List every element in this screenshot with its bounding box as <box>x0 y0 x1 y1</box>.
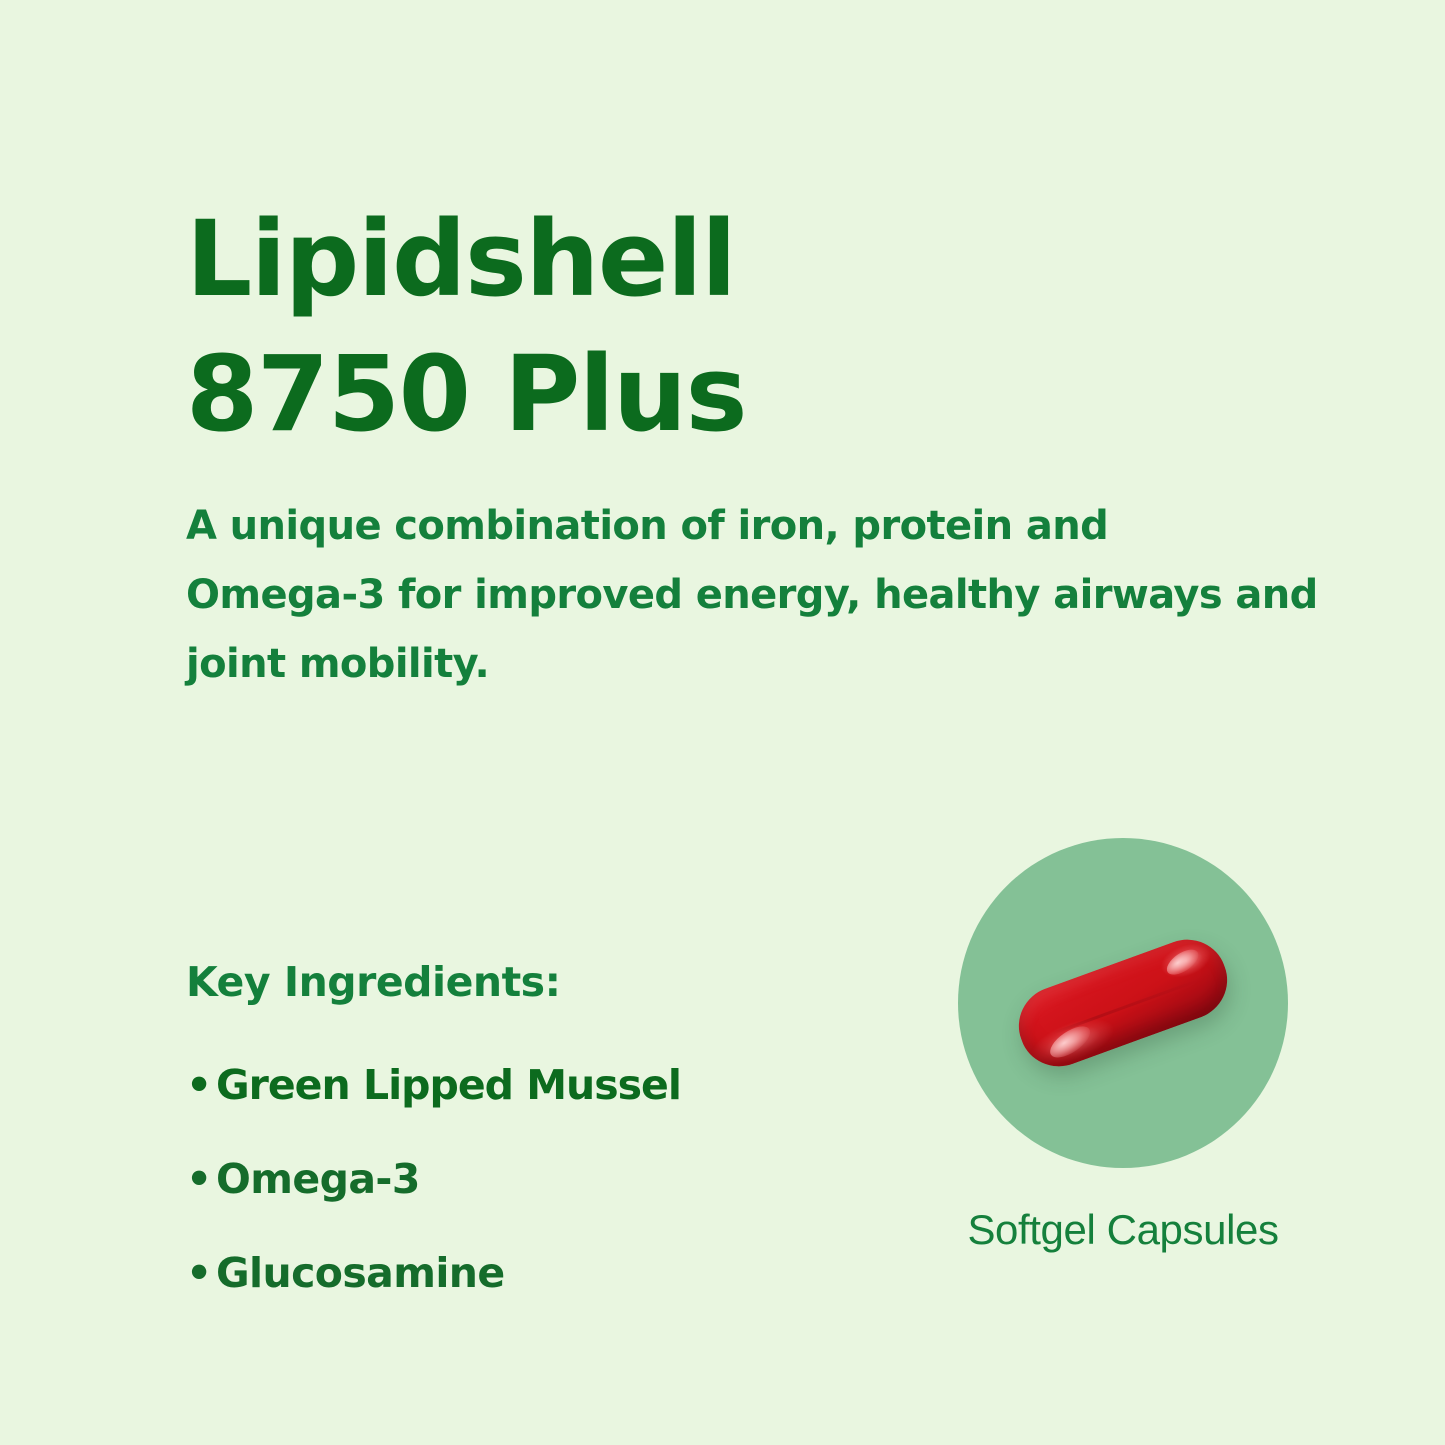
product-description-line-1: A unique combination of iron, protein an… <box>186 492 1316 561</box>
product-info-card: Lipidshell 8750 Plus A unique combinatio… <box>0 0 1445 1445</box>
capsule-caption: Softgel Capsules <box>958 1206 1288 1254</box>
product-title-line-2: 8750 Plus <box>186 327 1006 462</box>
page-title: Lipidshell 8750 Plus <box>186 192 1006 462</box>
list-item: •Omega-3 <box>186 1159 806 1200</box>
capsule-circle-backdrop <box>958 838 1288 1168</box>
ingredient-label: Green Lipped Mussel <box>216 1061 681 1109</box>
key-ingredients-section: Key Ingredients: •Green Lipped Mussel •O… <box>186 962 806 1294</box>
product-description-line-2: Omega-3 for improved energy, healthy air… <box>186 561 1316 630</box>
ingredient-label: Glucosamine <box>216 1249 505 1297</box>
ingredient-label: Omega-3 <box>216 1155 420 1203</box>
product-description: A unique combination of iron, protein an… <box>186 492 1316 698</box>
list-item: •Green Lipped Mussel <box>186 1065 806 1106</box>
bullet-icon: • <box>186 1159 216 1200</box>
list-item: •Glucosamine <box>186 1253 806 1294</box>
ingredient-list: •Green Lipped Mussel •Omega-3 •Glucosami… <box>186 1065 806 1294</box>
bullet-icon: • <box>186 1065 216 1106</box>
bullet-icon: • <box>186 1253 216 1294</box>
capsule-figure: Softgel Capsules <box>958 838 1288 1254</box>
key-ingredients-heading: Key Ingredients: <box>186 962 806 1003</box>
red-softgel-capsule-icon <box>1008 928 1238 1077</box>
product-description-line-3: joint mobility. <box>186 630 1316 699</box>
product-title-line-1: Lipidshell <box>186 192 1006 327</box>
capsule-highlight-secondary <box>1162 944 1202 979</box>
